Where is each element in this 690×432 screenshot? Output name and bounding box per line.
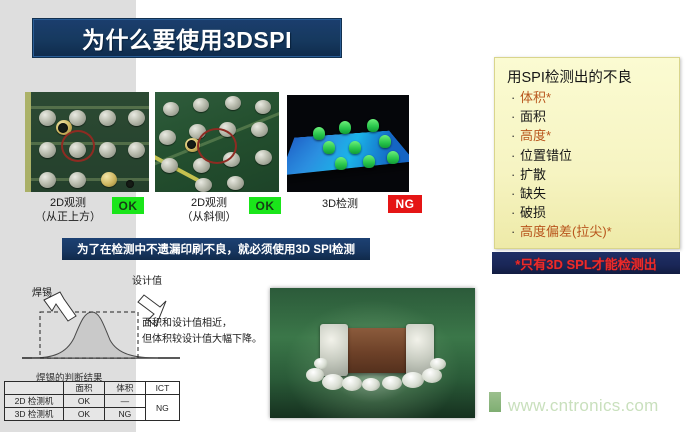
paste-deposit-3d <box>349 141 361 154</box>
defect-label: 高度偏差(拉尖)* <box>520 224 612 239</box>
footnote-banner-text: *只有3D SPL才能检测出 <box>515 254 657 273</box>
bullet-icon: · <box>511 146 520 165</box>
defect-label: 扩散 <box>520 167 546 182</box>
defect-list-title: 用SPI检测出的不良 <box>507 66 632 87</box>
solder-pad <box>99 142 116 158</box>
defect-label: 缺失 <box>520 186 546 201</box>
bullet-icon: · <box>511 88 520 107</box>
page-title: 为什么要使用3DSPI <box>82 21 292 55</box>
table-header-row: 面积 体积 ICT <box>5 382 180 395</box>
defect-label: 高度* <box>520 128 551 143</box>
table-cell-label: 2D 检测机 <box>5 395 64 408</box>
missing-paste-hole <box>58 123 68 133</box>
note-line-1: 面积和设计值相近， <box>142 316 262 332</box>
conclusion-banner-text: 为了在检测中不遗漏印刷不良，就必须使用3D SPI检测 <box>77 241 355 257</box>
solder-ball <box>314 358 328 369</box>
solder-pad-gold <box>101 172 117 187</box>
solder-ball <box>430 358 446 370</box>
status-badge-ok-2: OK <box>249 197 281 214</box>
solder-joint <box>227 176 244 190</box>
table-cell-volume: NG <box>104 408 145 421</box>
photo-2d-angled-view <box>155 92 279 192</box>
photo-3d-inspection <box>287 95 409 192</box>
photo-chip-component <box>270 288 475 418</box>
caption-2d-top: 2D观测 （从正上方） <box>35 196 101 224</box>
solder-pad <box>128 142 145 158</box>
photo-2d-top-view <box>25 92 149 192</box>
pcb-top-image <box>25 92 149 192</box>
solder-ball <box>322 374 344 390</box>
note-line-2: 但体积较设计值大幅下降。 <box>142 332 262 348</box>
status-badge-ok-1: OK <box>112 197 144 214</box>
solder-ball <box>382 376 402 390</box>
solder-ball <box>342 376 362 391</box>
label-solder: 焊锡 <box>32 284 52 299</box>
paste-deposit-3d <box>335 157 347 170</box>
conclusion-banner: 为了在检测中不遗漏印刷不良，就必须使用3D SPI检测 <box>62 238 370 260</box>
list-item: ·高度* <box>511 126 671 145</box>
defect-label: 面积 <box>520 109 546 124</box>
table-header-cell: 面积 <box>64 382 105 395</box>
table-cell-area: OK <box>64 395 105 408</box>
pcb-angled-image <box>155 92 279 192</box>
defect-annotation-circle <box>61 130 95 162</box>
solder-joint <box>193 98 209 112</box>
badge-label: OK <box>119 199 138 213</box>
solder-ball <box>362 378 380 391</box>
solder-pad <box>39 172 56 188</box>
bullet-icon: · <box>511 107 520 126</box>
badge-label: OK <box>256 199 275 213</box>
diagram-note: 面积和设计值相近， 但体积较设计值大幅下降。 <box>142 316 262 348</box>
table-cell-ict: NG <box>145 395 179 421</box>
solder-joint <box>195 178 212 192</box>
table-row: 2D 检测机 OK — NG <box>5 395 180 408</box>
bullet-icon: · <box>511 165 520 184</box>
bullet-icon: · <box>511 222 520 241</box>
paste-deposit-3d <box>323 141 335 154</box>
missing-paste-hole <box>187 140 196 149</box>
solder-joint <box>159 130 176 145</box>
defect-annotation-circle <box>197 128 237 164</box>
solder-ball <box>402 372 424 388</box>
table-header-cell: ICT <box>145 382 179 395</box>
paste-deposit-3d <box>363 155 375 168</box>
list-item: ·位置错位 <box>511 146 671 165</box>
paste-deposit-3d <box>379 135 391 148</box>
watermark-text: www.cntronics.com <box>508 396 659 416</box>
paste-deposit-3d <box>339 121 351 134</box>
list-item: ·体积* <box>511 88 671 107</box>
list-item: ·缺失 <box>511 184 671 203</box>
paste-deposit-3d <box>367 119 379 132</box>
solder-joint <box>251 122 268 137</box>
solder-ball <box>422 368 442 383</box>
defect-label: 破损 <box>520 205 546 220</box>
result-table: 面积 体积 ICT 2D 检测机 OK — NG 3D 检测机 OK NG <box>4 381 180 421</box>
list-item: ·面积 <box>511 107 671 126</box>
list-item: ·高度偏差(拉尖)* <box>511 222 671 241</box>
defect-label: 体积* <box>520 90 551 105</box>
table-cell-label: 3D 检测机 <box>5 408 64 421</box>
solder-pad <box>39 110 56 126</box>
status-badge-ng: NG <box>388 195 422 213</box>
solder-joint <box>225 96 241 110</box>
solder-pad <box>128 110 145 126</box>
caption-line2: （从斜侧） <box>176 210 242 224</box>
defect-list: ·体积* ·面积 ·高度* ·位置错位 ·扩散 ·缺失 ·破损 ·高度偏差(拉尖… <box>511 88 671 242</box>
caption-line1: 2D观测 <box>176 196 242 210</box>
label-design-value: 设计值 <box>132 272 162 287</box>
solder-joint <box>163 102 179 116</box>
caption-line1: 2D观测 <box>35 196 101 210</box>
solder-pad <box>99 110 116 126</box>
caption-line2: （从正上方） <box>35 210 101 224</box>
slide-title-bar: 为什么要使用3DSPI <box>32 18 342 58</box>
caption-2d-angled: 2D观测 （从斜侧） <box>176 196 242 224</box>
solder-pad <box>69 110 86 126</box>
solder-joint <box>255 100 271 114</box>
defect-list-panel: 用SPI检测出的不良 ·体积* ·面积 ·高度* ·位置错位 ·扩散 ·缺失 ·… <box>494 57 680 249</box>
solder-pad <box>69 172 86 188</box>
table-cell-area: OK <box>64 408 105 421</box>
slide-canvas: 为什么要使用3DSPI <box>0 0 690 432</box>
pcb-trace <box>31 106 149 109</box>
chip-body <box>342 328 410 373</box>
table-cell-volume: — <box>104 395 145 408</box>
badge-label: NG <box>396 197 415 211</box>
table-header-cell <box>5 382 64 395</box>
list-item: ·扩散 <box>511 165 671 184</box>
table-header-cell: 体积 <box>104 382 145 395</box>
bullet-icon: · <box>511 126 520 145</box>
solder-joint <box>255 150 272 165</box>
caption-3d: 3D检测 <box>309 197 371 211</box>
missing-paste-hole <box>126 180 134 188</box>
solder-joint <box>161 158 178 173</box>
bullet-icon: · <box>511 184 520 203</box>
height-map-render <box>287 95 409 192</box>
paste-deposit-3d <box>387 151 399 164</box>
solder-pad <box>39 142 56 158</box>
paste-deposit-3d <box>313 127 325 140</box>
bullet-icon: · <box>511 203 520 222</box>
list-item: ·破损 <box>511 203 671 222</box>
footnote-banner: *只有3D SPL才能检测出 <box>492 252 680 274</box>
caption-line1: 3D检测 <box>309 197 371 211</box>
defect-label: 位置错位 <box>520 148 572 163</box>
watermark-logo-mark <box>489 392 501 412</box>
